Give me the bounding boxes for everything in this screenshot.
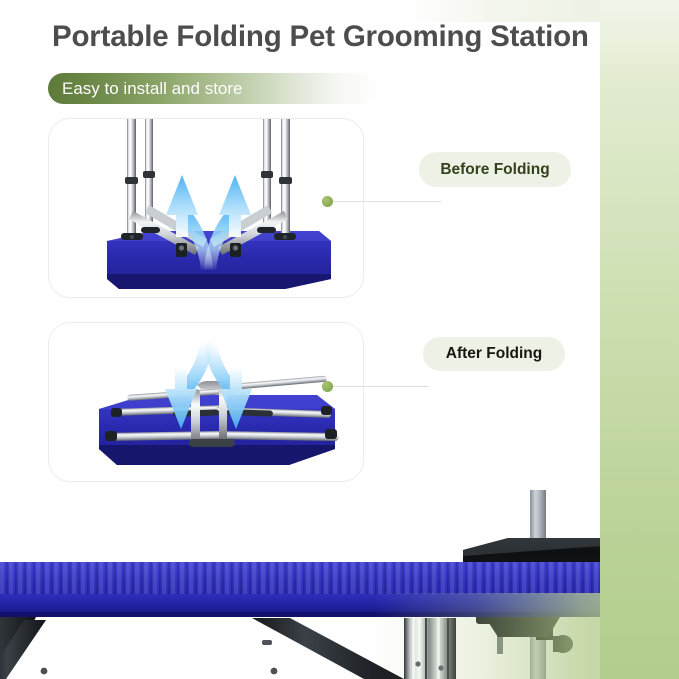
subtitle-badge: Easy to install and store — [48, 73, 380, 104]
connector-line-before — [333, 201, 441, 202]
subtitle-badge-label: Easy to install and store — [62, 79, 242, 99]
page-title: Portable Folding Pet Grooming Station — [52, 20, 652, 54]
label-after-folding-text: After Folding — [446, 345, 542, 363]
label-before-folding: Before Folding — [419, 152, 571, 187]
bottom-green-band — [0, 593, 679, 679]
label-after-folding: After Folding — [423, 337, 565, 371]
connector-dot-before — [322, 196, 333, 207]
connector-line-after — [333, 386, 429, 387]
right-green-band-overlay — [600, 0, 679, 679]
illustration-table-folded — [49, 323, 363, 481]
label-before-folding-text: Before Folding — [440, 161, 549, 179]
panel-after-folding — [48, 322, 364, 482]
connector-dot-after — [322, 381, 333, 392]
illustration-table-unfolded — [49, 119, 363, 297]
panel-before-folding — [48, 118, 364, 298]
infographic-canvas: Portable Folding Pet Grooming Station Ea… — [0, 0, 679, 679]
